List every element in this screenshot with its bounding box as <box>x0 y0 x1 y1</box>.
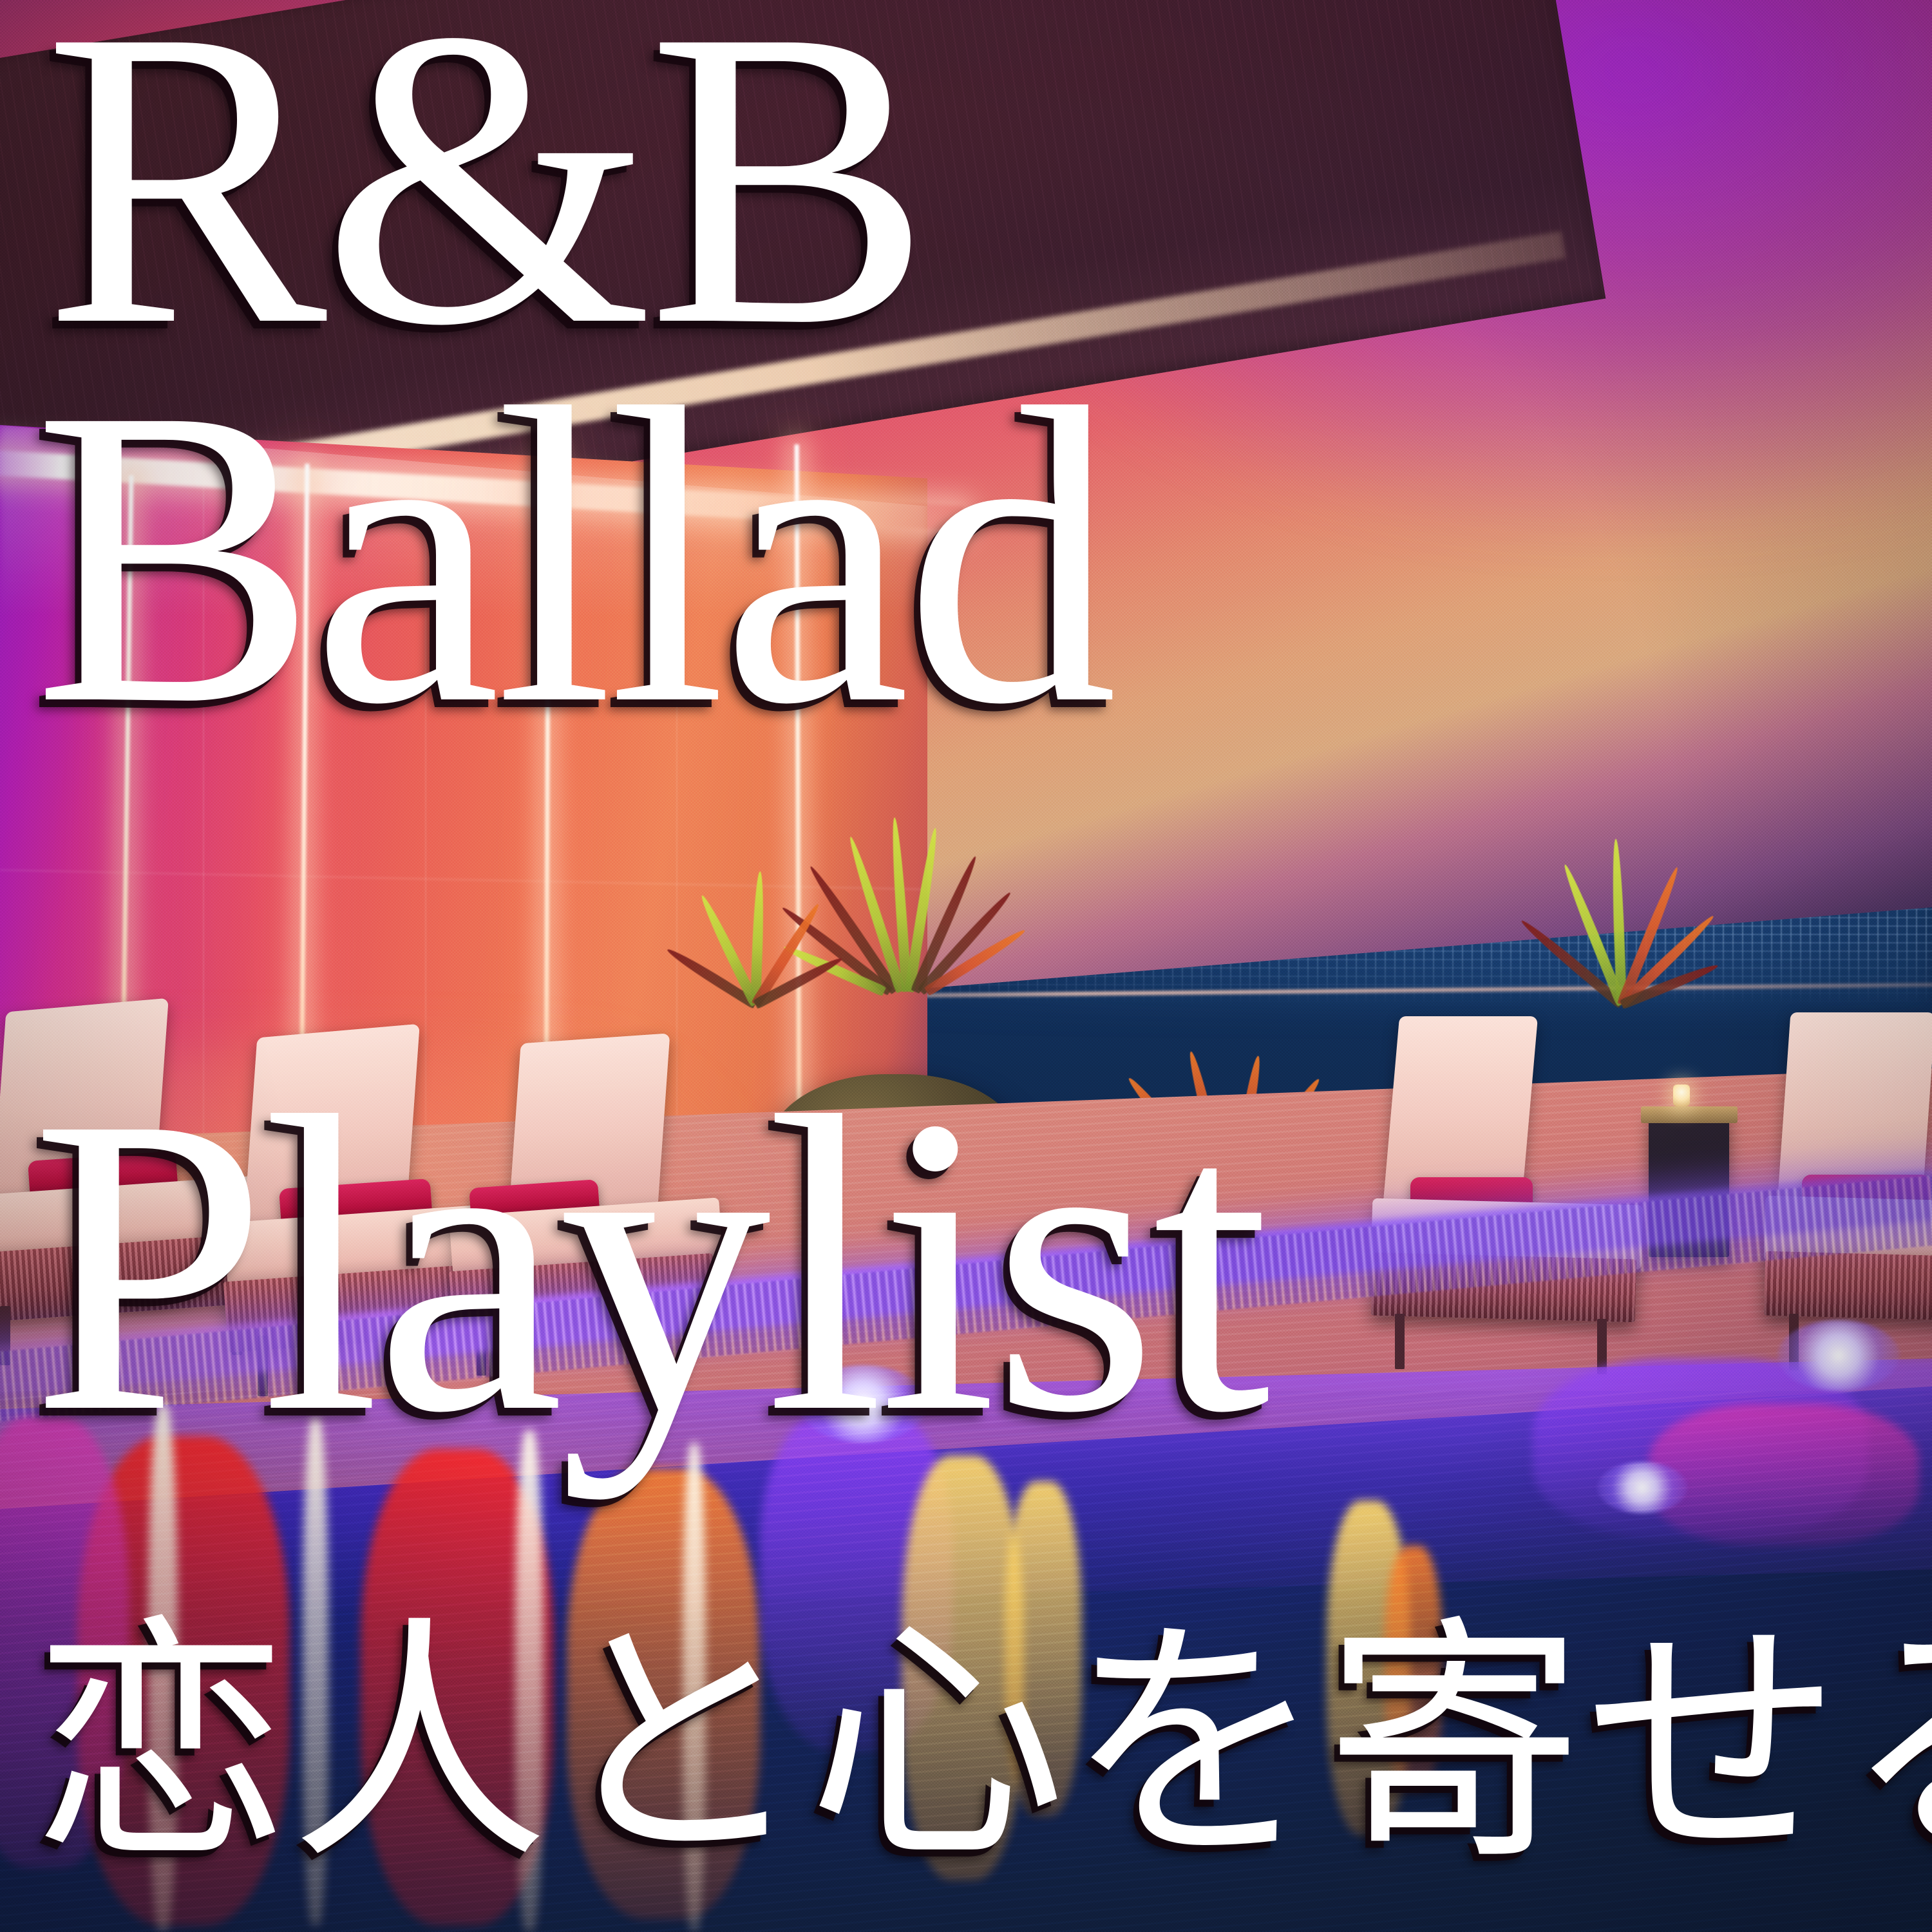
title-line-3: Playlist <box>31 1069 1265 1460</box>
title-line-2: Ballad <box>33 361 1112 752</box>
title-line-1: R&B <box>44 0 926 373</box>
japanese-subtitle: 恋人と心を寄せる夜に <box>32 1616 1932 1874</box>
album-cover: R&B Ballad Playlist 恋人と心を寄せる夜に <box>0 0 1932 1932</box>
title-block: R&B Ballad Playlist 恋人と心を寄せる夜に <box>0 0 1932 1932</box>
